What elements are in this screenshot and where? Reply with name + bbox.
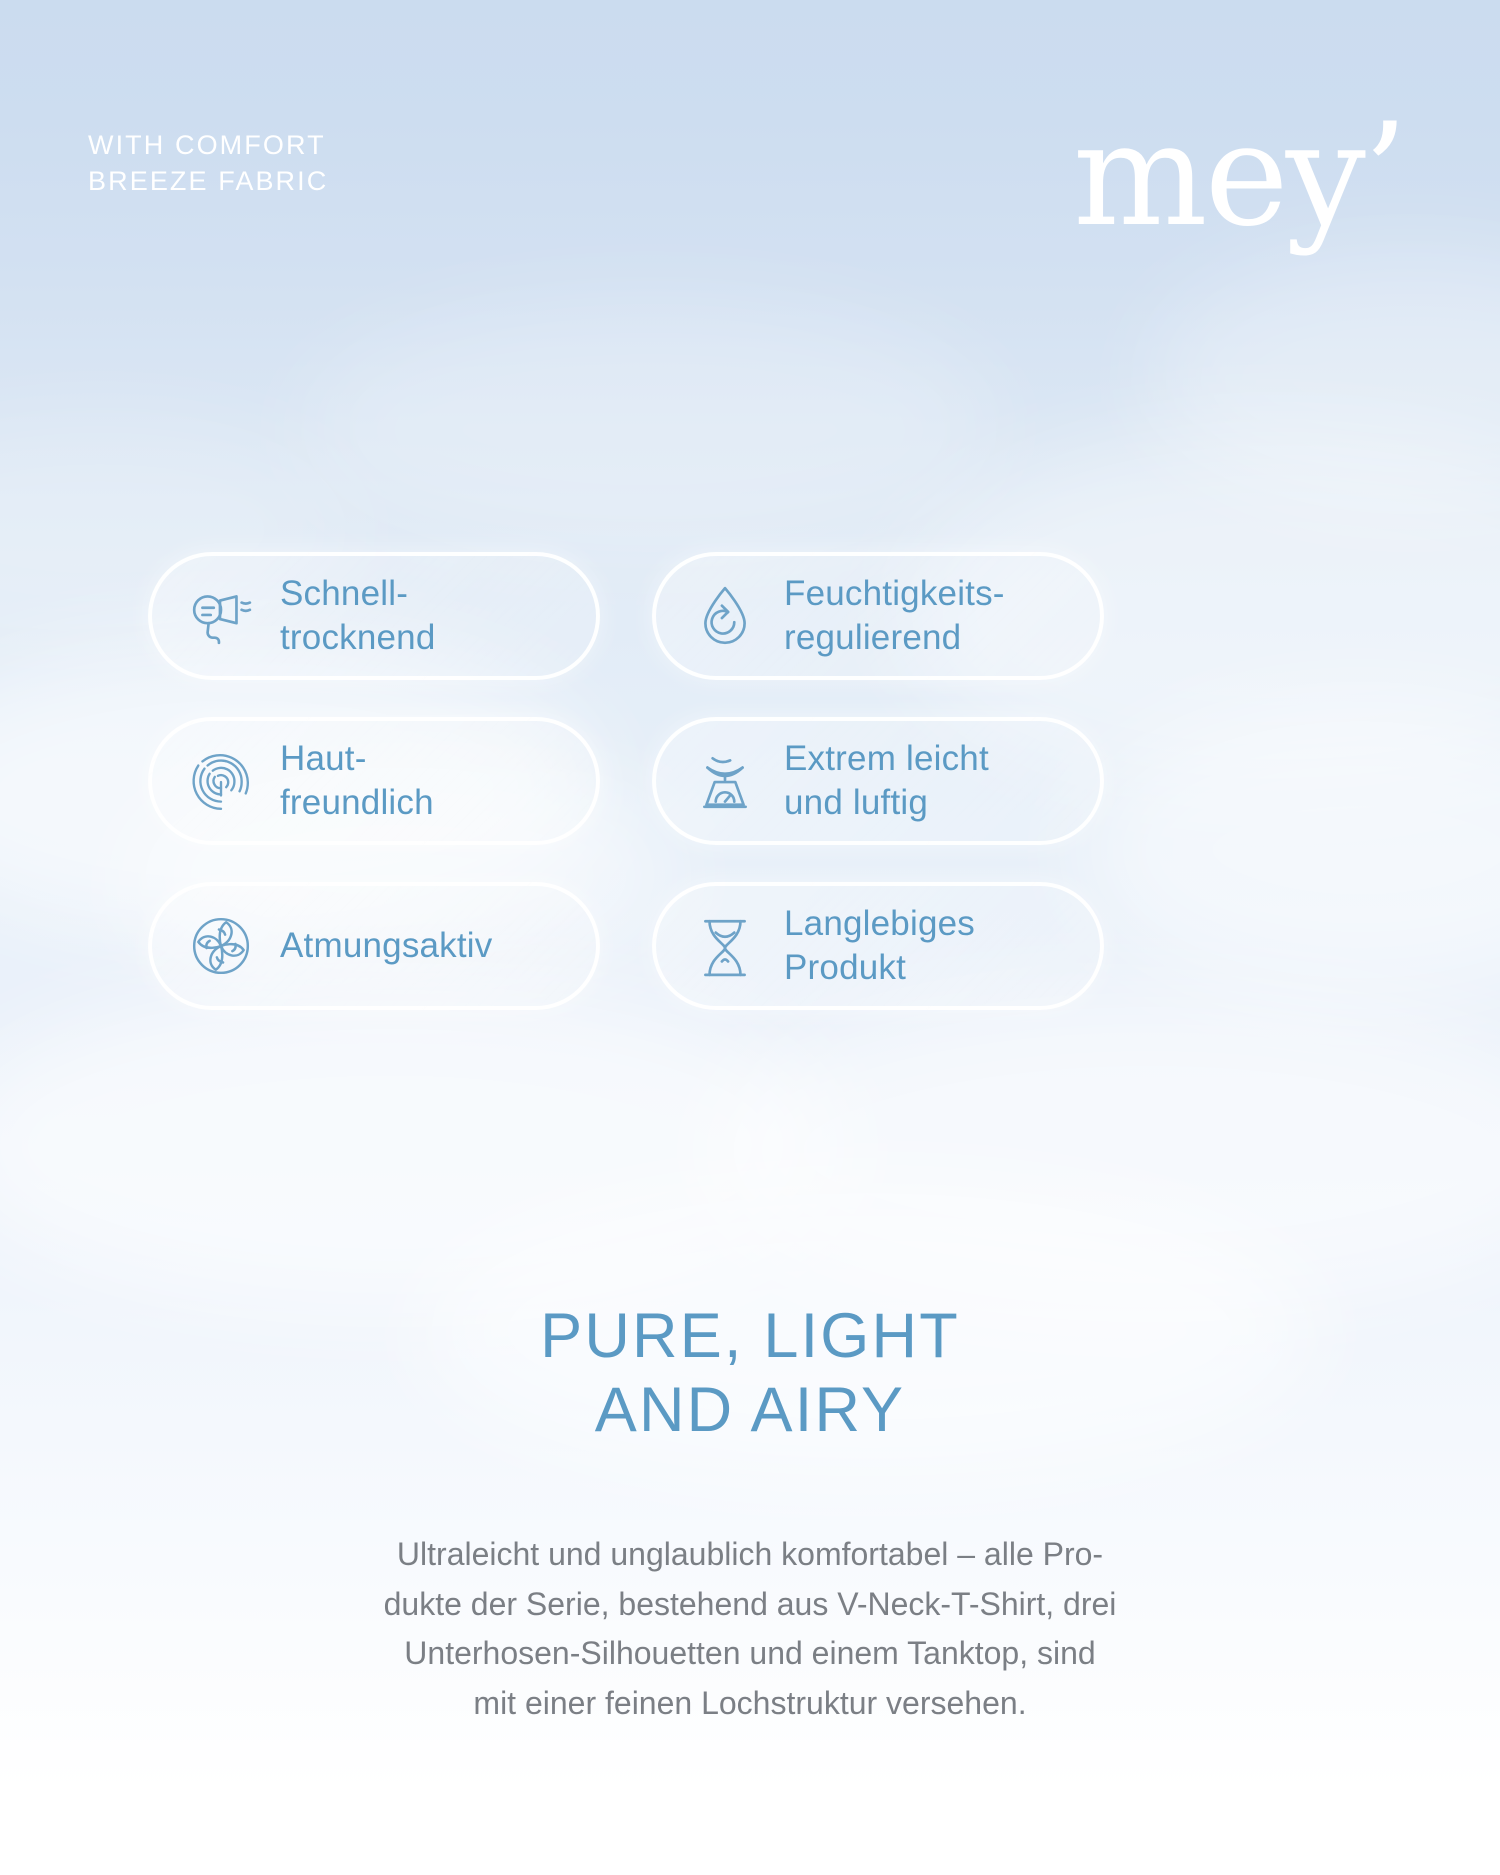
feature-pill-label: Atmungsaktiv <box>280 924 493 968</box>
cloud-shape <box>300 300 1000 560</box>
fan-breathable-icon <box>188 913 254 979</box>
hourglass-icon <box>692 913 758 979</box>
feature-pill-hautfreundlich[interactable]: Haut- freundlich <box>148 717 600 845</box>
feature-pill-label: Extrem leicht und luftig <box>784 737 989 826</box>
feature-pill-label: Feuchtigkeits- regulierend <box>784 572 1005 661</box>
feature-pill-grid: Schnell- trocknend Feuchtigkeits- reguli… <box>148 552 1356 1010</box>
feature-pill-label: Schnell- trocknend <box>280 572 436 661</box>
body-paragraph: Ultraleicht und unglaublich komfortabel … <box>240 1530 1260 1728</box>
hair-dryer-icon <box>188 583 254 649</box>
kicker-text: WITH COMFORT BREEZE FABRIC <box>88 128 328 200</box>
brand-logo: mey’ <box>1073 105 1405 247</box>
page-title: PURE, LIGHT AND AIRY <box>0 1300 1500 1447</box>
cloud-shape <box>1150 250 1500 510</box>
feature-pill-schnelltrocknend[interactable]: Schnell- trocknend <box>148 552 600 680</box>
kitchen-scale-icon <box>692 748 758 814</box>
poster-root: WITH COMFORT BREEZE FABRIC mey’ Schnell-… <box>0 0 1500 1875</box>
feature-pill-feuchtigkeitsregulierend[interactable]: Feuchtigkeits- regulierend <box>652 552 1104 680</box>
feature-pill-extremleicht[interactable]: Extrem leicht und luftig <box>652 717 1104 845</box>
cloud-shape <box>700 990 1500 1310</box>
water-drop-recycle-icon <box>692 583 758 649</box>
feature-pill-atmungsaktiv[interactable]: Atmungsaktiv <box>148 882 600 1010</box>
feature-pill-label: Langlebiges Produkt <box>784 902 975 991</box>
fingerprint-icon <box>188 748 254 814</box>
feature-pill-langlebigesprodukt[interactable]: Langlebiges Produkt <box>652 882 1104 1010</box>
feature-pill-label: Haut- freundlich <box>280 737 434 826</box>
cloud-shape <box>0 980 840 1310</box>
